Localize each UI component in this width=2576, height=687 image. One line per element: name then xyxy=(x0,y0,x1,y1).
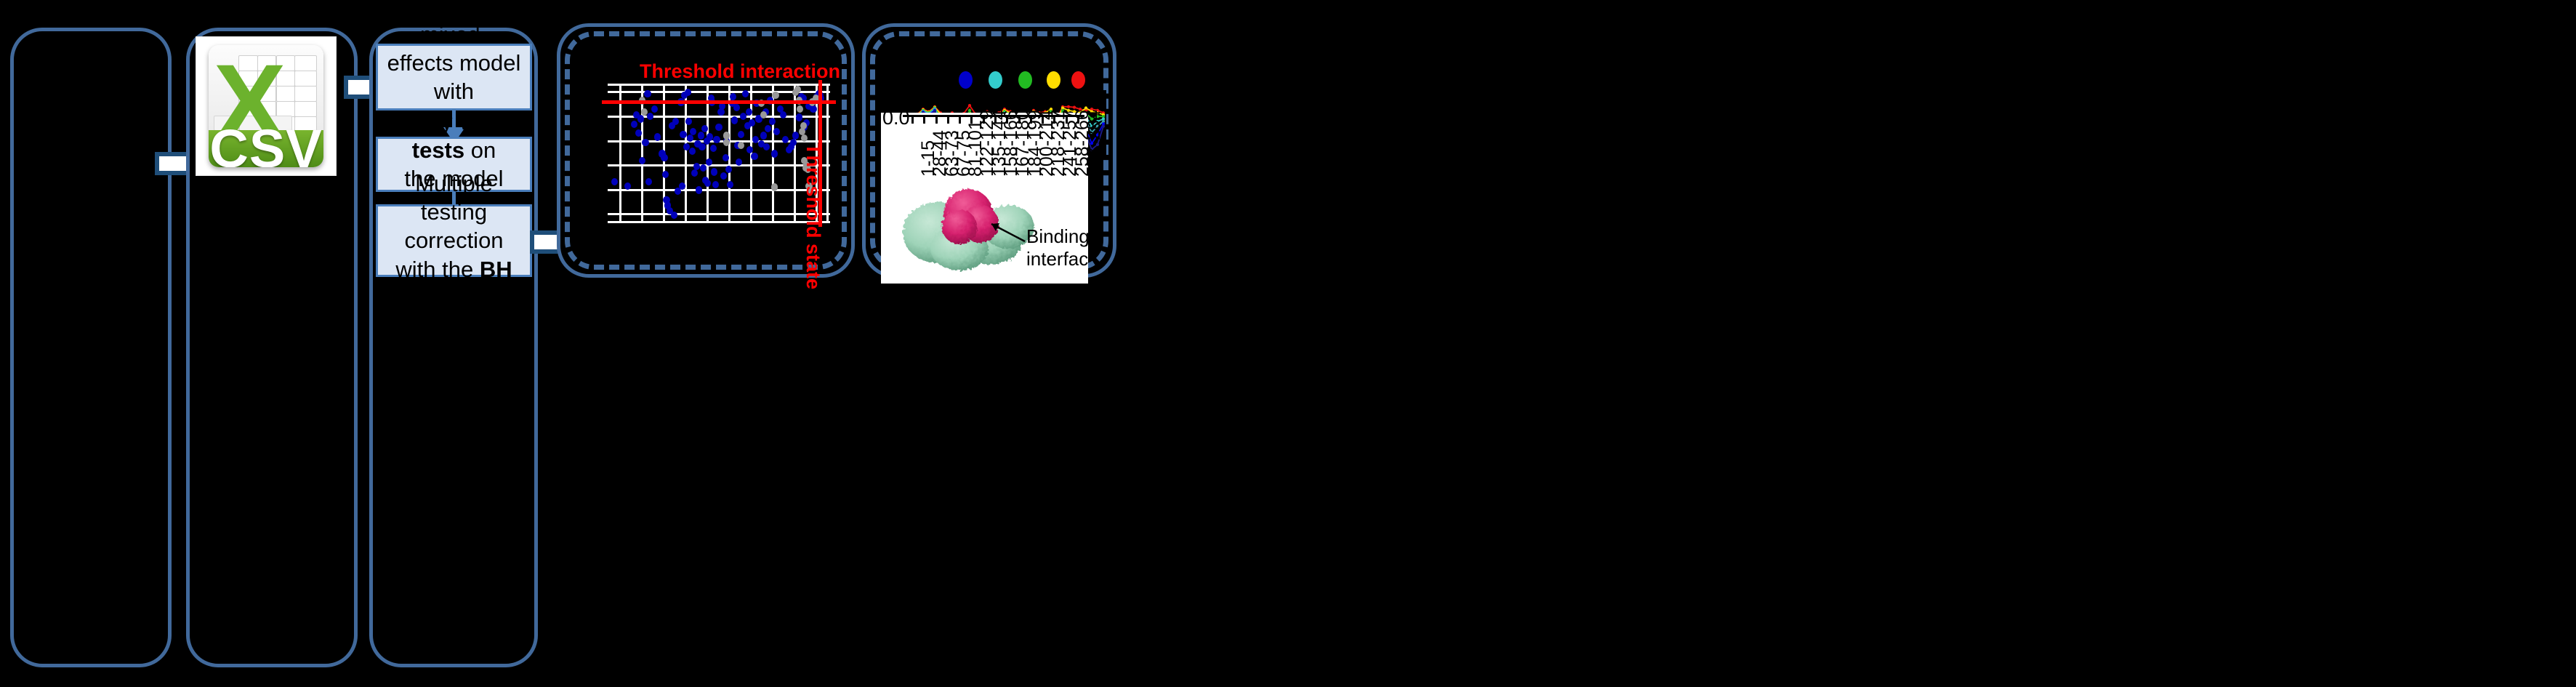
scatter-dot xyxy=(647,113,653,120)
scatter-dot xyxy=(707,133,713,140)
threshold-interaction-line xyxy=(602,100,836,104)
scatter-dot xyxy=(713,136,720,143)
step-bh-box[interactable]: Multiple testing correction with the BH … xyxy=(376,204,532,277)
binding-interface-line1: Binding xyxy=(1026,225,1088,247)
scatter-dot xyxy=(710,145,717,152)
scatter-dot xyxy=(690,128,696,135)
scatter-dot xyxy=(765,125,771,132)
scatter-dot xyxy=(715,124,722,131)
scatter-dot xyxy=(771,150,778,157)
peptide-series-point xyxy=(968,109,971,112)
scatter-dot xyxy=(769,118,776,125)
scatter-dot xyxy=(772,92,778,99)
step-wald-pre: Apply xyxy=(396,109,459,134)
legend-dot-blue xyxy=(959,71,973,89)
step-reml-line1: Fit a linear mixed- xyxy=(401,0,507,47)
scatter-dot xyxy=(685,89,691,96)
scatter-dot xyxy=(701,125,708,132)
csv-icon-body: X CSV xyxy=(209,45,323,166)
scatter-dot xyxy=(763,143,770,150)
scatter-dot xyxy=(794,86,801,93)
step-bh-line1: Multiple testing xyxy=(415,171,493,225)
legend-dot-yellow xyxy=(1047,71,1060,89)
binding-interface-line2: interface xyxy=(1026,248,1088,270)
scatter-dot xyxy=(780,111,786,118)
scatter-dot xyxy=(782,136,789,143)
step-bh-bold: BH xyxy=(480,257,512,282)
scatter-dot xyxy=(725,166,732,173)
peptide-series-point xyxy=(1084,106,1087,109)
scatter-dot xyxy=(751,153,757,160)
scatter-dot xyxy=(712,181,719,188)
scatter-dot xyxy=(654,133,661,140)
scatter-dot xyxy=(742,90,749,97)
scatter-dot xyxy=(696,186,702,193)
scatter-dot xyxy=(790,139,797,146)
legend-dot-red xyxy=(1071,71,1085,89)
scatter-dot xyxy=(691,169,698,177)
scatter-dot xyxy=(773,128,780,135)
scatter-dot xyxy=(723,139,730,146)
scatter-dot xyxy=(644,90,651,97)
scatter-dot xyxy=(727,181,733,188)
scatter-dot xyxy=(685,118,692,125)
scatter-dot xyxy=(760,132,767,139)
scatter-dot xyxy=(736,158,742,166)
scatter-dot xyxy=(704,180,711,187)
scatter-dot xyxy=(749,119,755,126)
step-bh-line2: correction xyxy=(404,228,503,253)
scatter-dot xyxy=(797,105,803,113)
legend-dot-cyan xyxy=(989,71,1002,89)
scatter-dot xyxy=(738,142,744,149)
step-reml-line2: effects model with xyxy=(387,50,521,104)
scatter-dot xyxy=(796,113,802,121)
step-reml-box[interactable]: Fit a linear mixed- effects model with R… xyxy=(376,44,532,111)
scatter-dot xyxy=(731,116,738,124)
scatter-dot xyxy=(746,108,752,116)
scatter-dot xyxy=(672,118,679,125)
scatter-dot xyxy=(730,93,736,100)
csv-label-band: CSV xyxy=(209,130,323,166)
scatter-dot xyxy=(693,163,700,170)
scatter-dot xyxy=(637,115,644,122)
scatter-dot xyxy=(792,132,799,139)
scatter-dot xyxy=(810,105,816,113)
threshold-interaction-label: Threshold interaction xyxy=(640,60,840,83)
binding-interface-annotation: Binding interface xyxy=(1026,225,1088,270)
step-bh-pre3: with the xyxy=(395,257,479,282)
scatter-dot xyxy=(738,131,744,138)
scatter-points-layer xyxy=(608,84,830,223)
csv-label: CSV xyxy=(209,118,322,167)
scatter-dot xyxy=(661,154,667,161)
scatter-dot xyxy=(687,134,693,142)
step-bh-text: Multiple testing correction with the BH … xyxy=(384,169,524,311)
scatter-dot xyxy=(706,158,712,166)
scatter-dot xyxy=(671,212,677,219)
scatter-dot xyxy=(720,172,727,180)
scatter-dot xyxy=(680,131,686,138)
scatter-dot xyxy=(624,182,631,190)
scatter-dot xyxy=(635,129,642,137)
scatter-dot xyxy=(641,108,648,116)
scatter-dot xyxy=(642,139,648,146)
peptide-series-point xyxy=(1073,106,1076,109)
step-wald-post: on xyxy=(464,137,496,163)
scatter-dot xyxy=(733,104,740,111)
scatter-dot xyxy=(611,178,618,185)
scatter-dot xyxy=(651,105,658,113)
scatter-dot xyxy=(698,132,704,139)
scatter-dot xyxy=(662,171,669,178)
scatter-dot xyxy=(800,122,807,129)
scatter-dot xyxy=(639,157,645,164)
scatter-dot xyxy=(631,121,637,128)
scatter-dot xyxy=(723,154,729,161)
excel-x-glyph: X xyxy=(214,48,248,116)
scatter-dot xyxy=(760,111,767,118)
scatter-dot xyxy=(711,168,717,175)
step-bh-post3: procedure xyxy=(403,285,505,310)
scatter-dot xyxy=(700,164,707,172)
threshold-state-label: Threshold state xyxy=(802,143,824,289)
peptide-tick-label: 277-284 xyxy=(1084,110,1105,177)
panel-input-empty xyxy=(10,28,172,667)
protein-structure-figure: Binding interface xyxy=(881,182,1088,284)
scatter-dot xyxy=(679,182,685,190)
legend-dot-green xyxy=(1018,71,1032,89)
peptide-series-point xyxy=(968,104,971,107)
scatter-plot: Threshold interaction Threshold state xyxy=(602,62,834,233)
scatter-plot-area xyxy=(608,84,830,223)
scatter-dot xyxy=(801,134,808,142)
csv-file-icon: X CSV xyxy=(196,37,336,175)
peptide-series-point xyxy=(1067,105,1070,108)
scatter-dot xyxy=(771,183,778,190)
scatter-dot xyxy=(645,178,652,185)
scatter-dot xyxy=(689,148,696,155)
